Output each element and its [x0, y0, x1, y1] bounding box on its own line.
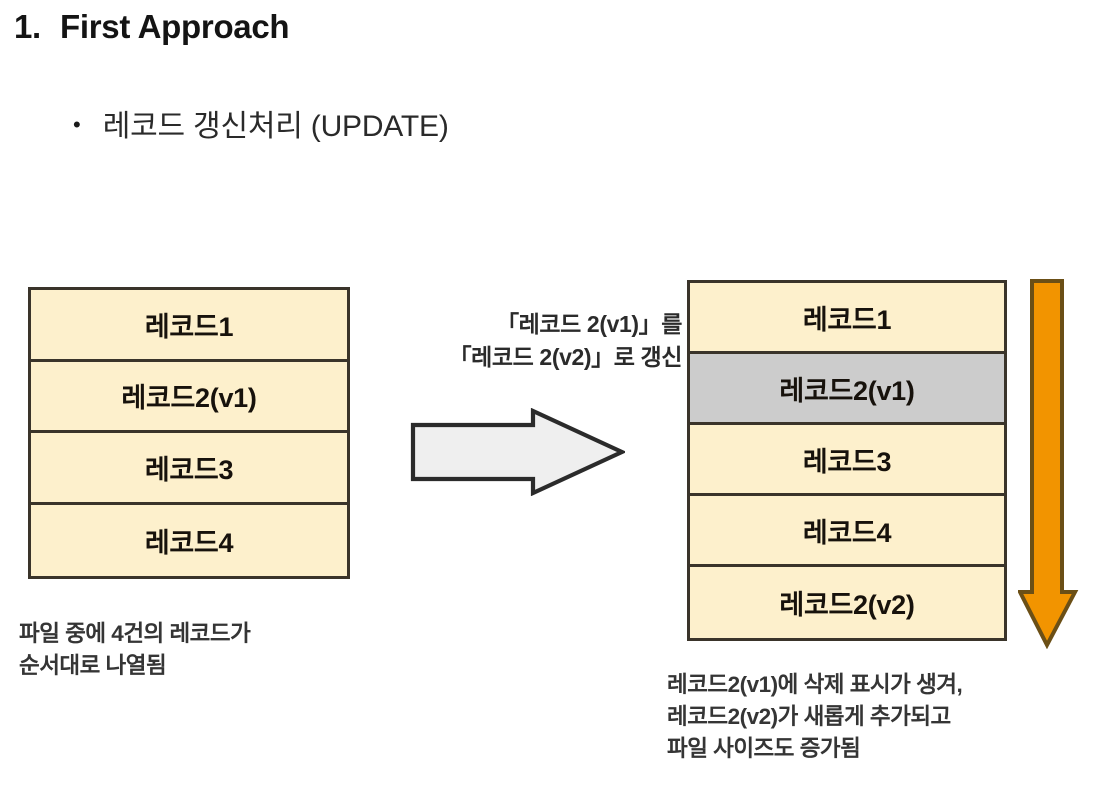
page-title-text: First Approach: [60, 8, 289, 45]
bullet-item-label: 레코드 갱신처리 (UPDATE): [103, 101, 449, 145]
caption-after-line3: 파일 사이즈도 증가됨: [667, 736, 860, 761]
page-title: 1.First Approach: [14, 8, 289, 46]
right-arrow-icon: [410, 408, 625, 496]
update-description-line2: 「레코드 2(v2)」로 갱신: [449, 344, 682, 370]
table-row: 레코드4: [690, 496, 1004, 567]
bullet-item: • 레코드 갱신처리 (UPDATE): [73, 101, 449, 145]
table-row: 레코드4: [31, 505, 347, 577]
caption-after-line2: 레코드2(v2)가 새롭게 추가되고: [667, 704, 951, 729]
caption-after-table: 레코드2(v1)에 삭제 표시가 생겨,레코드2(v2)가 새롭게 추가되고파일…: [667, 669, 962, 765]
table-row: 레코드3: [31, 433, 347, 505]
record-table-after: 레코드1 레코드2(v1) 레코드3 레코드4 레코드2(v2): [687, 280, 1007, 641]
table-row: 레코드2(v2): [690, 567, 1004, 638]
caption-before-line2: 순서대로 나열됨: [19, 653, 166, 678]
table-row-highlighted: 레코드2(v1): [690, 354, 1004, 425]
down-arrow-icon: [1018, 277, 1080, 649]
caption-before-line1: 파일 중에 4건의 레코드가: [19, 621, 250, 646]
table-row: 레코드2(v1): [31, 362, 347, 434]
update-description: 「레코드 2(v1)」를「레코드 2(v2)」로 갱신: [350, 308, 682, 375]
caption-after-line1: 레코드2(v1)에 삭제 표시가 생겨,: [667, 672, 962, 697]
table-row: 레코드1: [31, 290, 347, 362]
record-table-before: 레코드1 레코드2(v1) 레코드3 레코드4: [28, 287, 350, 579]
bullet-dot-icon: •: [73, 114, 81, 136]
caption-before-table: 파일 중에 4건의 레코드가순서대로 나열됨: [19, 618, 250, 682]
page-title-number: 1.: [14, 8, 60, 46]
table-row: 레코드1: [690, 283, 1004, 354]
table-row: 레코드3: [690, 425, 1004, 496]
update-description-line1: 「레코드 2(v1)」를: [496, 311, 682, 337]
